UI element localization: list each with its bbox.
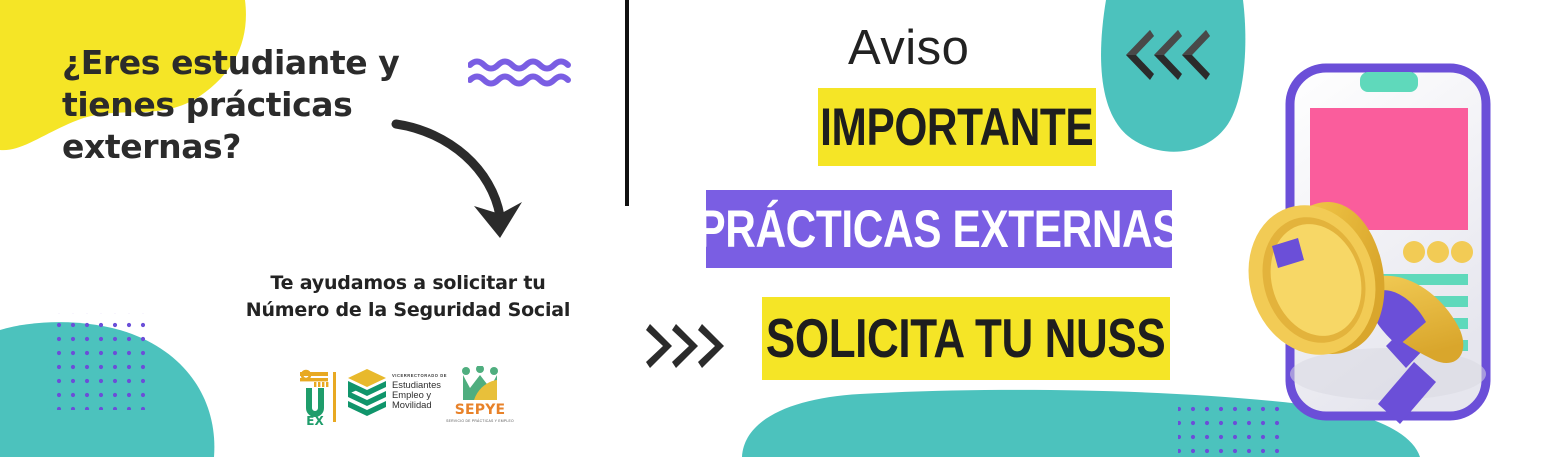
promotional-banner: ¿Eres estudiante y tienes prácticas exte… bbox=[0, 0, 1565, 457]
sepye-subtitle: SERVICIO DE PRÁCTICAS Y EMPLEO bbox=[446, 419, 514, 423]
stacked-layers-icon bbox=[348, 366, 388, 418]
subtext-help-message: Te ayudamos a solicitar tu Número de la … bbox=[186, 270, 630, 324]
bar-solicita-tu-nuss: SOLICITA TU NUSS bbox=[762, 297, 1170, 380]
bar-solicita-label: SOLICITA TU NUSS bbox=[766, 311, 1165, 366]
bar-importante: IMPORTANTE bbox=[818, 88, 1096, 166]
bar-practicas-externas: PRÁCTICAS EXTERNAS bbox=[706, 190, 1172, 268]
left-panel: ¿Eres estudiante y tienes prácticas exte… bbox=[0, 0, 630, 457]
vicerrectorado-line-3: Movilidad bbox=[392, 400, 447, 410]
sepye-logo: SEPYE SERVICIO DE PRÁCTICAS Y EMPLEO bbox=[453, 366, 507, 423]
vicerrectorado-logo: VICERRECTORADO DE Estudiantes Empleo y M… bbox=[348, 366, 447, 418]
bar-importante-label: IMPORTANTE bbox=[820, 101, 1093, 154]
curved-arrow-icon bbox=[388, 112, 538, 252]
megaphone-smartphone-illustration bbox=[1228, 24, 1548, 449]
aviso-label: Aviso bbox=[848, 24, 969, 73]
logo-row: EX VICERRECTORADO DE bbox=[296, 366, 507, 428]
uex-logo: EX bbox=[296, 366, 342, 428]
svg-text:EX: EX bbox=[306, 414, 324, 428]
sepye-crown-icon bbox=[458, 366, 502, 402]
right-panel: Aviso IMPORTANTE PRÁCTICAS EXTERNAS bbox=[630, 0, 1565, 457]
wavy-lines-icon bbox=[468, 56, 584, 93]
vertical-divider bbox=[625, 0, 629, 206]
triple-chevron-right-icon bbox=[646, 321, 732, 376]
sepye-wordmark: SEPYE bbox=[455, 403, 506, 417]
bar-practicas-label: PRÁCTICAS EXTERNAS bbox=[698, 203, 1181, 256]
triple-chevron-left-icon bbox=[1120, 27, 1210, 88]
